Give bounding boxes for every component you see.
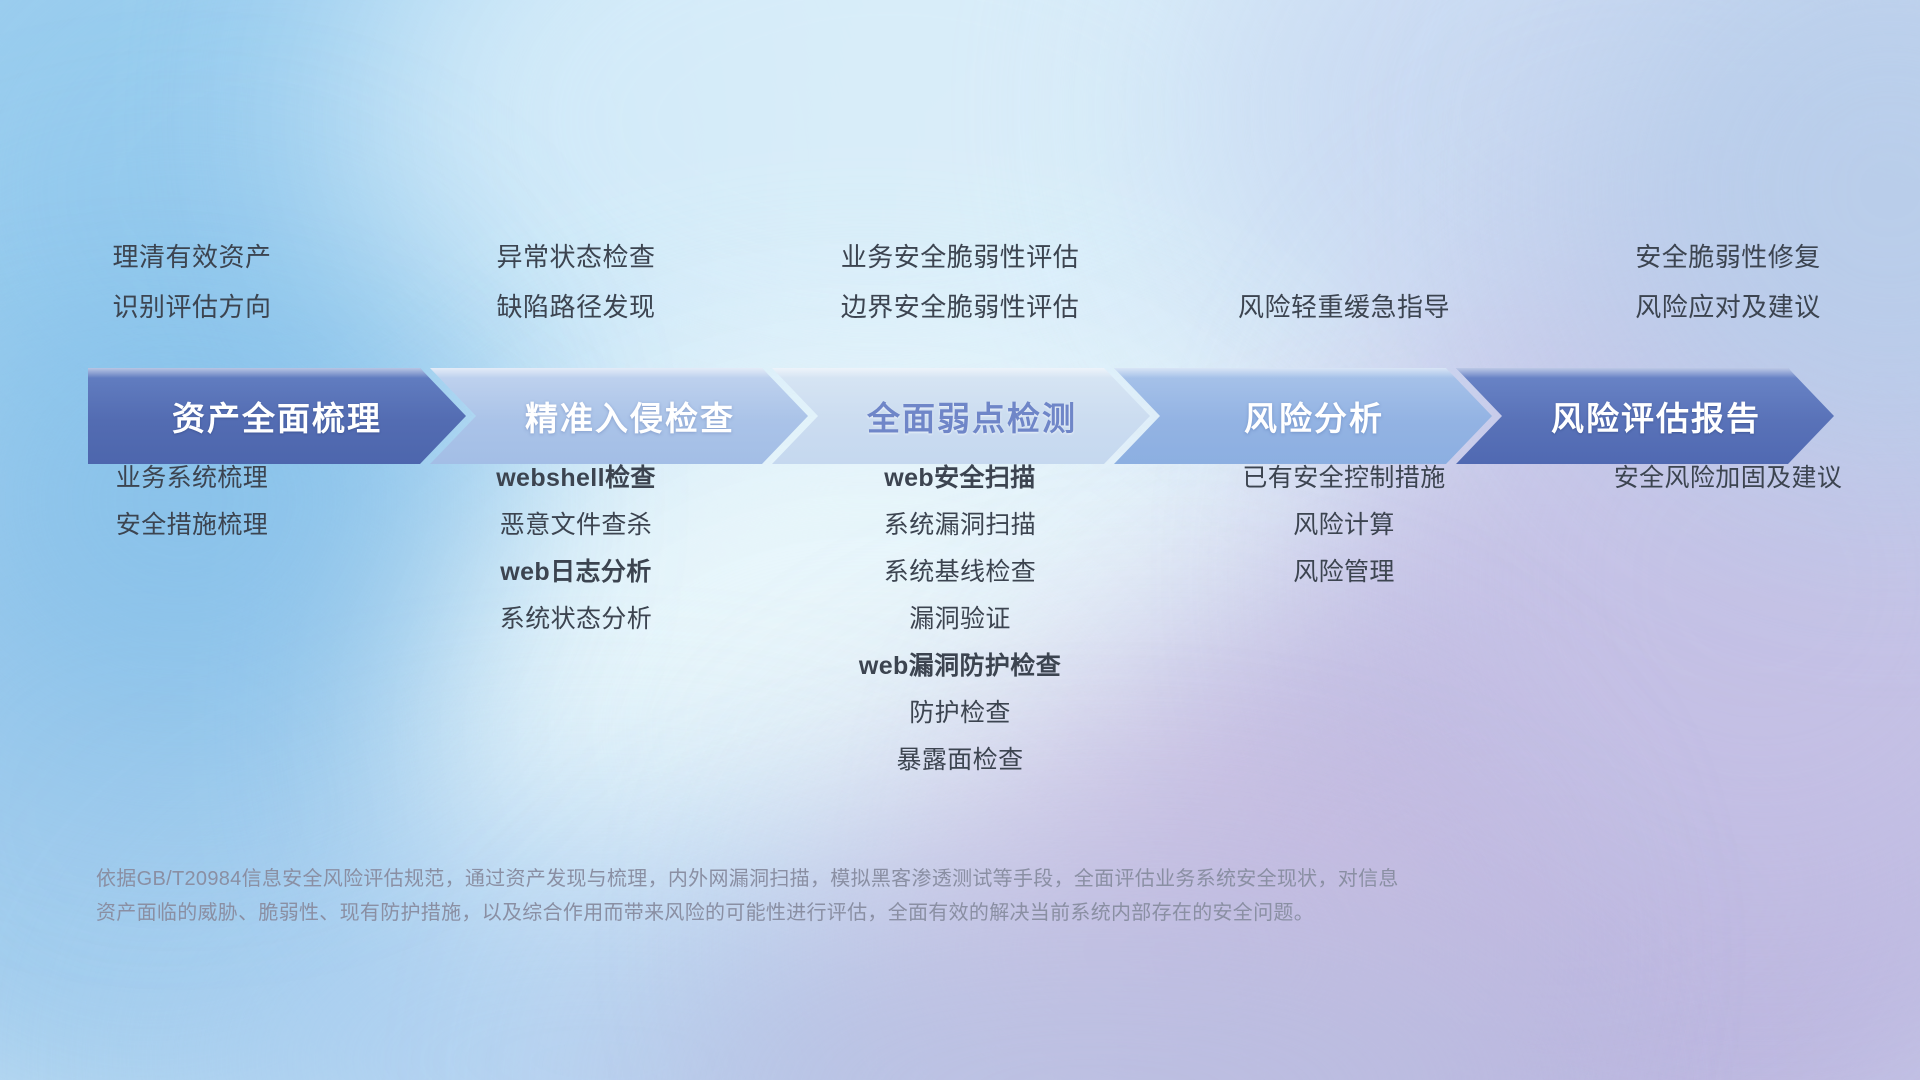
stage-inputs-weakness-detection: 业务安全脆弱性评估边界安全脆弱性评估 bbox=[768, 232, 1152, 332]
chevron-sheen bbox=[430, 368, 808, 378]
stage-chevron-risk-report[interactable]: 风险评估报告 bbox=[1456, 368, 1834, 464]
stage-activity-item: 恶意文件查杀 bbox=[384, 502, 768, 549]
stage-chevron-weakness-detection[interactable]: 全面弱点检测 bbox=[772, 368, 1150, 464]
stage-input-item: 风险应对及建议 bbox=[1536, 282, 1920, 332]
stage-chevron-risk-analysis[interactable]: 风险分析 bbox=[1114, 368, 1492, 464]
footer-line: 资产面临的威胁、脆弱性、现有防护措施，以及综合作用而带来风险的可能性进行评估，全… bbox=[96, 896, 1616, 930]
stage-activity-item: 系统基线检查 bbox=[768, 549, 1152, 596]
stage-inputs-risk-analysis: 风险轻重缓急指导 bbox=[1152, 232, 1536, 332]
process-diagram: 理清有效资产识别评估方向异常状态检查缺陷路径发现业务安全脆弱性评估边界安全脆弱性… bbox=[0, 0, 1920, 1080]
stage-input-item: 识别评估方向 bbox=[0, 282, 384, 332]
stage-activities-weakness-detection: web安全扫描系统漏洞扫描系统基线检查漏洞验证web漏洞防护检查防护检查暴露面检… bbox=[768, 455, 1152, 784]
stage-activity-item: 风险计算 bbox=[1152, 502, 1536, 549]
stage-activities-intrusion-check: webshell检查恶意文件查杀web日志分析系统状态分析 bbox=[384, 455, 768, 643]
stage-chevron-intrusion-check[interactable]: 精准入侵检查 bbox=[430, 368, 808, 464]
stage-input-item: 安全脆弱性修复 bbox=[1536, 232, 1920, 282]
stage-activity-item: web漏洞防护检查 bbox=[768, 643, 1152, 690]
spacer bbox=[1152, 232, 1536, 282]
stage-inputs-risk-report: 安全脆弱性修复风险应对及建议 bbox=[1536, 232, 1920, 332]
stage-inputs-row: 理清有效资产识别评估方向异常状态检查缺陷路径发现业务安全脆弱性评估边界安全脆弱性… bbox=[0, 232, 1920, 332]
stage-activity-item: 暴露面检查 bbox=[768, 737, 1152, 784]
stage-activity-item: web日志分析 bbox=[384, 549, 768, 596]
stage-activity-item: 系统漏洞扫描 bbox=[768, 502, 1152, 549]
chevron-sheen bbox=[88, 368, 466, 378]
stage-activity-item: 漏洞验证 bbox=[768, 596, 1152, 643]
stage-input-item: 理清有效资产 bbox=[0, 232, 384, 282]
stage-chevron-asset-inventory[interactable]: 资产全面梳理 bbox=[88, 368, 466, 464]
chevron-sheen bbox=[1114, 368, 1492, 378]
footer-description: 依据GB/T20984信息安全风险评估规范，通过资产发现与梳理，内外网漏洞扫描，… bbox=[96, 862, 1616, 930]
footer-line: 依据GB/T20984信息安全风险评估规范，通过资产发现与梳理，内外网漏洞扫描，… bbox=[96, 862, 1616, 896]
stage-activity-item: 风险管理 bbox=[1152, 549, 1536, 596]
stage-title: 全面弱点检测 bbox=[867, 392, 1077, 440]
stage-title: 精准入侵检查 bbox=[525, 392, 735, 440]
stage-title: 风险分析 bbox=[1244, 392, 1384, 440]
stage-input-item: 业务安全脆弱性评估 bbox=[768, 232, 1152, 282]
stage-inputs-asset-inventory: 理清有效资产识别评估方向 bbox=[0, 232, 384, 332]
chevron-sheen bbox=[1456, 368, 1834, 378]
stage-activities-row: 业务系统梳理安全措施梳理webshell检查恶意文件查杀web日志分析系统状态分… bbox=[0, 455, 1920, 784]
stage-chevron-band: 资产全面梳理精准入侵检查全面弱点检测风险分析风险评估报告 bbox=[88, 368, 1834, 464]
stage-activities-asset-inventory: 业务系统梳理安全措施梳理 bbox=[0, 455, 384, 549]
stage-input-item: 缺陷路径发现 bbox=[384, 282, 768, 332]
chevron-sheen bbox=[772, 368, 1150, 378]
stage-activity-item: 防护检查 bbox=[768, 690, 1152, 737]
stage-input-item: 风险轻重缓急指导 bbox=[1152, 282, 1536, 332]
stage-inputs-intrusion-check: 异常状态检查缺陷路径发现 bbox=[384, 232, 768, 332]
stage-activities-risk-analysis: 已有安全控制措施风险计算风险管理 bbox=[1152, 455, 1536, 596]
stage-activity-item: 系统状态分析 bbox=[384, 596, 768, 643]
stage-title: 资产全面梳理 bbox=[172, 392, 382, 440]
stage-activity-item: 安全措施梳理 bbox=[0, 502, 384, 549]
stage-input-item: 异常状态检查 bbox=[384, 232, 768, 282]
stage-title: 风险评估报告 bbox=[1551, 392, 1761, 440]
stage-input-item: 边界安全脆弱性评估 bbox=[768, 282, 1152, 332]
